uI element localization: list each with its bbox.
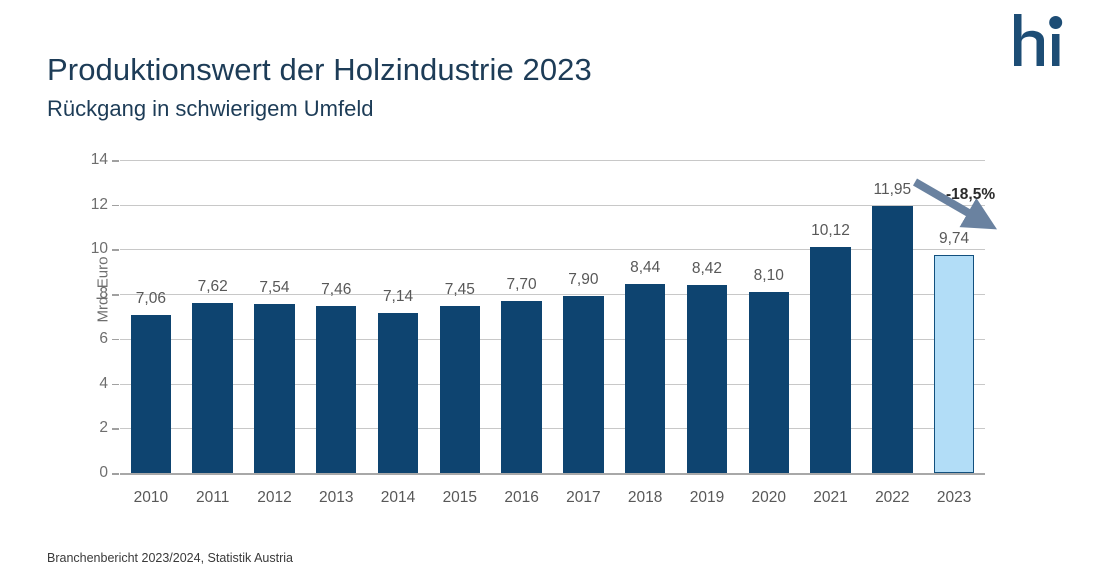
y-axis-tick-mark — [112, 294, 119, 296]
bar-2014[interactable] — [378, 313, 418, 473]
bar-value-2014: 7,14 — [368, 289, 428, 305]
gridline — [120, 384, 985, 385]
y-axis-tick-label: 10 — [66, 241, 108, 257]
y-axis-tick-label: 4 — [66, 376, 108, 392]
bar-2020[interactable] — [749, 292, 789, 473]
y-axis-tick-label: 0 — [66, 465, 108, 481]
y-axis-tick-mark — [112, 249, 119, 251]
bar-2023[interactable] — [934, 255, 974, 473]
bar-2015[interactable] — [440, 306, 480, 473]
x-axis-tick-label-2015: 2015 — [429, 490, 491, 506]
bar-2010[interactable] — [131, 315, 171, 473]
y-axis-tick-mark — [112, 205, 119, 207]
x-axis-tick-label-2023: 2023 — [923, 490, 985, 506]
y-axis-tick-label: 6 — [66, 331, 108, 347]
x-axis-tick-label-2019: 2019 — [676, 490, 738, 506]
bar-2011[interactable] — [192, 303, 232, 473]
x-axis-tick-label-2014: 2014 — [367, 490, 429, 506]
bar-value-2011: 7,62 — [182, 279, 242, 295]
bar-value-2015: 7,45 — [430, 282, 490, 298]
y-axis-tick-label: 2 — [66, 420, 108, 436]
decline-annotation-label: -18,5% — [946, 186, 995, 204]
bar-2022[interactable] — [872, 206, 912, 473]
y-axis-tick-mark — [112, 339, 119, 341]
bar-value-2022: 11,95 — [862, 182, 922, 198]
x-axis-tick-label-2013: 2013 — [305, 490, 367, 506]
plot-area — [120, 160, 985, 473]
x-axis-tick-label-2011: 2011 — [182, 490, 244, 506]
bar-value-2020: 8,10 — [739, 268, 799, 284]
bar-2013[interactable] — [316, 306, 356, 473]
bar-2012[interactable] — [254, 304, 294, 473]
bar-value-2010: 7,06 — [121, 291, 181, 307]
bar-2021[interactable] — [810, 247, 850, 473]
bar-value-2021: 10,12 — [800, 223, 860, 239]
gridline — [120, 160, 985, 161]
bar-value-2013: 7,46 — [306, 282, 366, 298]
y-axis-tick-label: 14 — [66, 152, 108, 168]
x-axis-tick-label-2022: 2022 — [861, 490, 923, 506]
x-axis-tick-label-2021: 2021 — [800, 490, 862, 506]
x-axis-tick-label-2010: 2010 — [120, 490, 182, 506]
gridline — [120, 473, 985, 475]
bar-2016[interactable] — [501, 301, 541, 473]
x-axis-tick-label-2016: 2016 — [491, 490, 553, 506]
bar-value-2019: 8,42 — [677, 261, 737, 277]
x-axis-tick-label-2017: 2017 — [553, 490, 615, 506]
gridline — [120, 339, 985, 340]
bar-2019[interactable] — [687, 285, 727, 473]
y-axis-tick-label: 8 — [66, 286, 108, 302]
x-axis-tick-label-2018: 2018 — [614, 490, 676, 506]
bar-2018[interactable] — [625, 284, 665, 473]
y-axis-tick-mark — [112, 428, 119, 430]
x-axis-tick-label-2012: 2012 — [244, 490, 306, 506]
gridline — [120, 205, 985, 206]
y-axis-tick-label: 12 — [66, 197, 108, 213]
bar-chart: Mrd. Euro 02468101214 201020112012201320… — [0, 0, 1100, 520]
chart-page: Produktionswert der Holzindustrie 2023 R… — [0, 0, 1100, 577]
bar-value-2016: 7,70 — [491, 277, 551, 293]
y-axis-tick-mark — [112, 384, 119, 386]
bar-value-2018: 8,44 — [615, 260, 675, 276]
y-axis-tick-mark — [112, 160, 119, 162]
source-footnote: Branchenbericht 2023/2024, Statistik Aus… — [47, 551, 293, 565]
y-axis-tick-mark — [112, 473, 119, 475]
x-axis-tick-label-2020: 2020 — [738, 490, 800, 506]
bar-value-2023: 9,74 — [924, 231, 984, 247]
bar-2017[interactable] — [563, 296, 603, 473]
bar-value-2017: 7,90 — [553, 272, 613, 288]
gridline — [120, 249, 985, 250]
bar-value-2012: 7,54 — [244, 280, 304, 296]
gridline — [120, 428, 985, 429]
